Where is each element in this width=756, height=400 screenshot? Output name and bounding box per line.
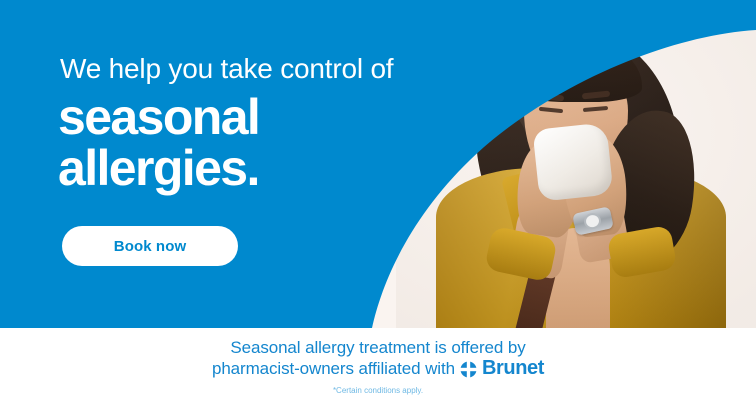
footer-text-line-1: Seasonal allergy treatment is offered by (0, 328, 756, 358)
hero-headline-subtitle: We help you take control of (60, 52, 393, 86)
hero-headline-line-1: seasonal (58, 92, 259, 143)
footer-brand-row: pharmacist-owners affiliated with Brunet (212, 358, 544, 379)
brunet-cross-circle-icon (460, 361, 477, 378)
hero-headline-main: seasonal allergies. (58, 92, 259, 194)
footer-banner: Seasonal allergy treatment is offered by… (0, 328, 756, 400)
footer-text-line-2: pharmacist-owners affiliated with Brunet (0, 358, 756, 379)
hero-headline-line-2: allergies. (58, 143, 259, 194)
book-now-button[interactable]: Book now (62, 226, 238, 266)
hero-section: We help you take control of seasonal all… (0, 0, 756, 328)
allergy-promo-banner: We help you take control of seasonal all… (0, 0, 756, 400)
brunet-wordmark: Brunet (482, 358, 544, 379)
footer-fineprint: *Certain conditions apply. (0, 386, 756, 396)
footer-line-2-prefix: pharmacist-owners affiliated with (212, 358, 455, 379)
